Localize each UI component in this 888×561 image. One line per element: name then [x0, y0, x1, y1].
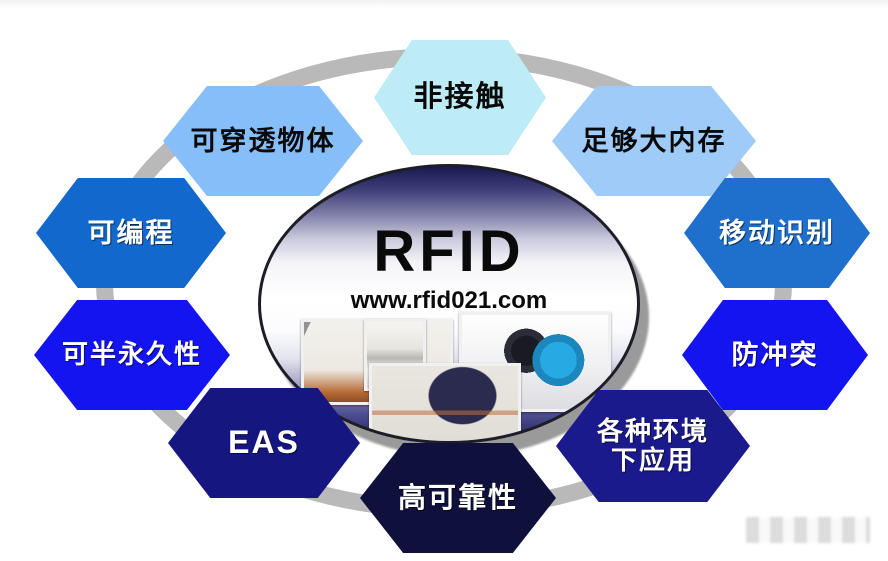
feature-hexagon-label: 高可靠性: [398, 482, 518, 513]
feature-hexagon-label: 可半永久性: [62, 340, 202, 369]
feature-hexagon-label: EAS: [228, 425, 300, 461]
feature-hexagon-label: 移动识别: [719, 218, 835, 248]
feature-hexagon-label: 可编程: [88, 218, 175, 248]
feature-hexagon-label: 各种环境 下应用: [597, 417, 709, 475]
top-edge-band: [0, 0, 888, 9]
feature-hexagon-label: 防冲突: [732, 340, 819, 370]
feature-hexagon-label: 非接触: [413, 81, 506, 113]
brand-url: www.rfid021.com: [261, 287, 637, 315]
feature-hexagon-label: 可穿透物体: [191, 126, 336, 156]
rfid-feature-diagram: RFID www.rfid021.com 非接触可穿透物体足够大内存可编程移动识…: [0, 0, 888, 561]
feature-hexagon-label: 足够大内存: [582, 126, 727, 156]
watermark: [746, 517, 870, 543]
rfid-antenna-coils-photo: [369, 363, 521, 444]
brand-title: RFID: [261, 223, 637, 281]
